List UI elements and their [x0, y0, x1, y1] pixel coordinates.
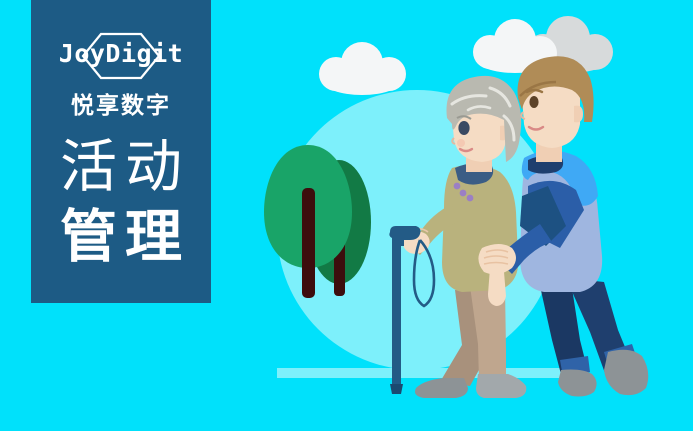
logo-block: JoyDigit 悦享数字: [31, 30, 211, 120]
woman-eye: [458, 121, 469, 135]
man-eye: [529, 96, 538, 108]
brand-panel: JoyDigit 悦享数字 活动 管理: [31, 0, 211, 303]
page-title: 活动 管理: [31, 132, 211, 272]
woman-cardigan: [442, 165, 518, 292]
title-line-1: 活动: [31, 132, 211, 202]
title-line-2: 管理: [31, 202, 211, 272]
logo-mark: JoyDigit: [31, 30, 211, 82]
logo-wordmark: JoyDigit: [31, 38, 211, 70]
poster-canvas: JoyDigit 悦享数字 活动 管理: [0, 0, 693, 431]
logo-chinese-name: 悦享数字: [31, 86, 211, 120]
